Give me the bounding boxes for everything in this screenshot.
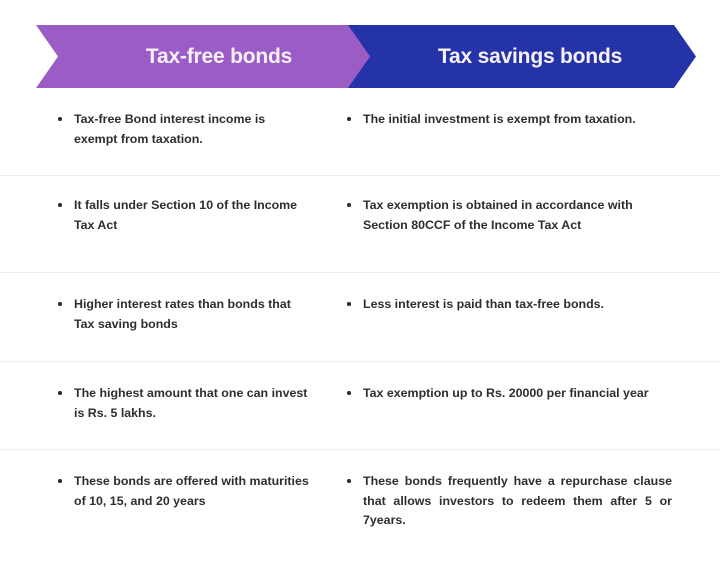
table-cell-left: Tax-free Bond interest income is exempt … bbox=[0, 88, 330, 175]
header-chevron-tax-free-bonds: Tax-free bonds bbox=[36, 25, 384, 88]
table-cell-right: The initial investment is exempt from ta… bbox=[330, 88, 720, 175]
bullet-item: It falls under Section 10 of the Income … bbox=[56, 196, 310, 235]
table-cell-right: Tax exemption up to Rs. 20000 per financ… bbox=[330, 362, 720, 449]
bullet-item: Tax exemption up to Rs. 20000 per financ… bbox=[345, 384, 672, 404]
table-cell-left: Higher interest rates than bonds that Ta… bbox=[0, 273, 330, 361]
bullet-item: Tax exemption is obtained in accordance … bbox=[345, 196, 672, 235]
table-cell-right: Tax exemption is obtained in accordance … bbox=[330, 176, 720, 272]
bullet-item: The highest amount that one can invest i… bbox=[56, 384, 310, 423]
table-row: The highest amount that one can invest i… bbox=[0, 361, 720, 449]
table-cell-left: It falls under Section 10 of the Income … bbox=[0, 176, 330, 272]
comparison-table: Tax-free Bond interest income is exempt … bbox=[0, 88, 720, 551]
table-cell-left: These bonds are offered with maturities … bbox=[0, 450, 330, 551]
comparison-header-banner: Tax-free bonds Tax savings bonds bbox=[0, 25, 720, 88]
table-row: Tax-free Bond interest income is exempt … bbox=[0, 88, 720, 175]
table-row: Higher interest rates than bonds that Ta… bbox=[0, 272, 720, 361]
table-row: It falls under Section 10 of the Income … bbox=[0, 175, 720, 272]
bullet-item: Tax-free Bond interest income is exempt … bbox=[56, 110, 310, 149]
bullet-item: Higher interest rates than bonds that Ta… bbox=[56, 295, 310, 334]
header-title-right: Tax savings bonds bbox=[422, 46, 622, 67]
table-cell-right: These bonds frequently have a repurchase… bbox=[330, 450, 720, 551]
table-cell-left: The highest amount that one can invest i… bbox=[0, 362, 330, 449]
table-row: These bonds are offered with maturities … bbox=[0, 449, 720, 551]
header-title-left: Tax-free bonds bbox=[128, 46, 292, 67]
bullet-item: Less interest is paid than tax-free bond… bbox=[345, 295, 672, 315]
bullet-item: These bonds frequently have a repurchase… bbox=[345, 472, 672, 531]
bullet-item: The initial investment is exempt from ta… bbox=[345, 110, 672, 130]
header-chevron-tax-savings-bonds: Tax savings bonds bbox=[348, 25, 696, 88]
table-cell-right: Less interest is paid than tax-free bond… bbox=[330, 273, 720, 361]
bullet-item: These bonds are offered with maturities … bbox=[56, 472, 310, 511]
